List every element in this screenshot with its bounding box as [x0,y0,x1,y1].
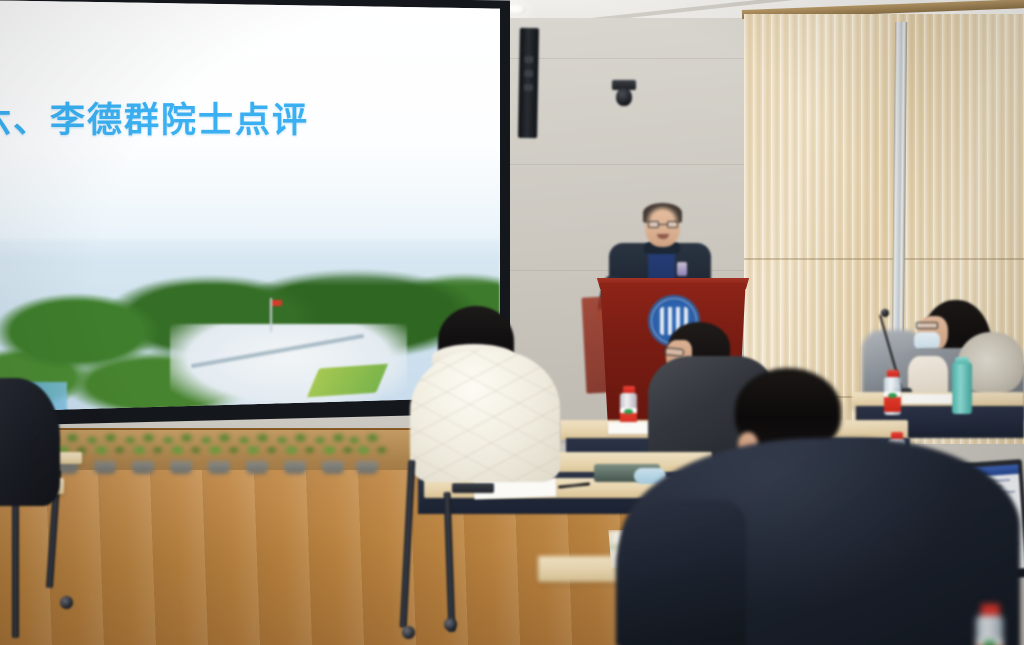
slide-title-text: 六、李德群院士点评 [0,92,406,143]
thermos-bottle [952,362,972,414]
papers-right-desk [902,394,952,404]
microphone-head-icon [881,309,889,317]
speaker-lanyard-badge [677,262,687,276]
ptz-ceiling-camera-icon [612,80,636,110]
speaker-glasses-icon [648,221,678,228]
slide-flagpole [270,298,272,332]
table-leg-3 [12,500,19,638]
caster-wheel-1 [402,626,415,639]
potted-plant-row [48,418,388,474]
conference-room-photo: 六、李德群院士点评 [0,0,1024,645]
phone-on-desk [452,483,494,493]
attendee-white-puffer-coat [410,350,560,482]
speaker-hair [643,203,682,223]
projection-screen: 六、李德群院士点评 [0,0,500,416]
caster-wheel-2 [444,618,457,631]
wall-column-speaker-icon [518,28,539,138]
caster-wheel-3 [60,596,73,609]
attendee-right-glasses-icon [916,322,938,329]
attendee-foreground-arm [616,500,746,645]
